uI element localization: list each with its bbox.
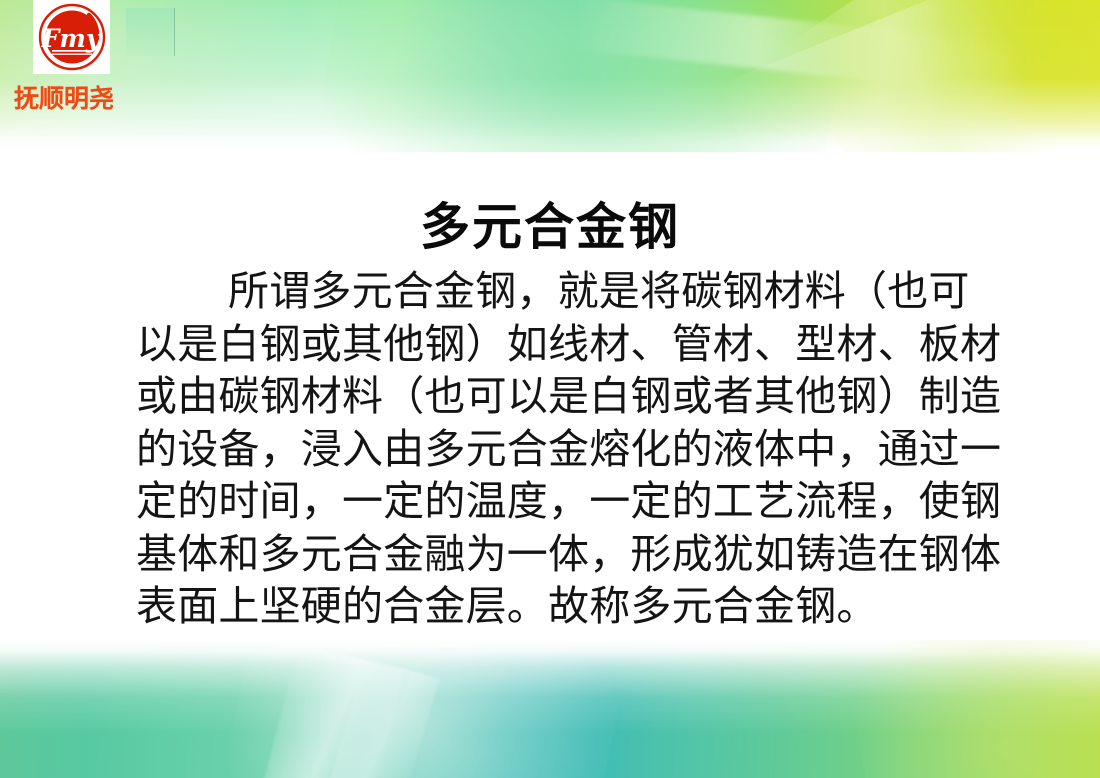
top-decorative-band <box>0 0 1100 152</box>
body-line: 的设备，浸入由多元合金熔化的液体中，通过一 <box>136 423 1028 476</box>
body-line: 以是白钢或其他钢）如线材、管材、型材、板材 <box>136 318 1028 371</box>
slide-body-text: 所谓多元合金钢，就是将碳钢材料（也可 以是白钢或其他钢）如线材、管材、型材、板材… <box>136 265 1028 633</box>
slide-title: 多元合金钢 <box>0 200 1100 255</box>
body-line: 基体和多元合金融为一体，形成犹如铸造在钢体 <box>136 528 1028 581</box>
company-logo: Fmy <box>33 0 110 74</box>
bottom-band-glow-right <box>839 640 1100 778</box>
body-line: 定的时间，一定的温度，一定的工艺流程，使钢 <box>136 475 1028 528</box>
presentation-slide: Fmy 抚顺明尧 多元合金钢 所谓多元合金钢，就是将碳钢材料（也可 以是白钢或其… <box>0 0 1100 778</box>
company-name-label: 抚顺明尧 <box>14 79 132 115</box>
body-line: 表面上坚硬的合金层。故称多元合金钢。 <box>136 580 1028 633</box>
body-line: 所谓多元合金钢，就是将碳钢材料（也可 <box>136 265 1028 318</box>
top-band-rectangle-artifact <box>126 8 175 56</box>
fmy-circular-logo-icon: Fmy <box>37 3 107 71</box>
bottom-decorative-band <box>0 640 1100 778</box>
body-line: 或由碳钢材料（也可以是白钢或者其他钢）制造 <box>136 370 1028 423</box>
svg-text:Fmy: Fmy <box>40 24 101 53</box>
